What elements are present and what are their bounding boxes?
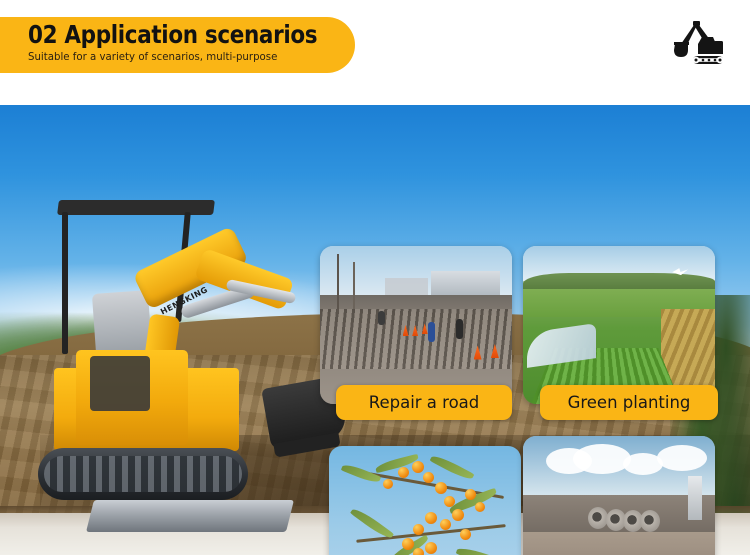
scenario-thumbnail-minor-works [523, 436, 715, 555]
excavator-machine: HENGKING [30, 200, 330, 555]
scenario-card-minor-works[interactable]: Minor works [523, 436, 715, 555]
canopy-post-left [62, 212, 68, 354]
scenario-photo-stage: HENGKING [0, 105, 750, 555]
application-scenarios-banner: 02 Application scenarios Suitable for a … [0, 0, 750, 555]
header: 02 Application scenarios Suitable for a … [0, 0, 750, 105]
excavator-icon [664, 20, 726, 68]
scenario-thumbnail-orchard-trenching [329, 446, 521, 555]
scenario-card-orchard-trenching[interactable]: Orchard Trenching [329, 446, 521, 555]
scenario-card-green-planting[interactable]: Green planting [523, 246, 715, 433]
dozer-blade [86, 500, 294, 532]
track-pads [44, 456, 242, 492]
scenario-thumbnail-green-planting [523, 246, 715, 404]
excavator-canopy [57, 200, 215, 215]
cab-interior [90, 356, 150, 411]
operator-seat [92, 290, 152, 356]
scenario-thumbnail-repair-a-road [320, 246, 512, 404]
page-title: 02 Application scenarios [28, 20, 309, 49]
page-subtitle: Suitable for a variety of scenarios, mul… [28, 50, 345, 64]
scenario-card-grid: Repair a road Green planting [320, 246, 720, 555]
scenario-label-green-planting[interactable]: Green planting [540, 385, 718, 420]
scenario-label-repair-a-road[interactable]: Repair a road [336, 385, 512, 420]
section-title-badge: 02 Application scenarios Suitable for a … [0, 17, 355, 73]
scenario-card-repair-a-road[interactable]: Repair a road [320, 246, 512, 433]
